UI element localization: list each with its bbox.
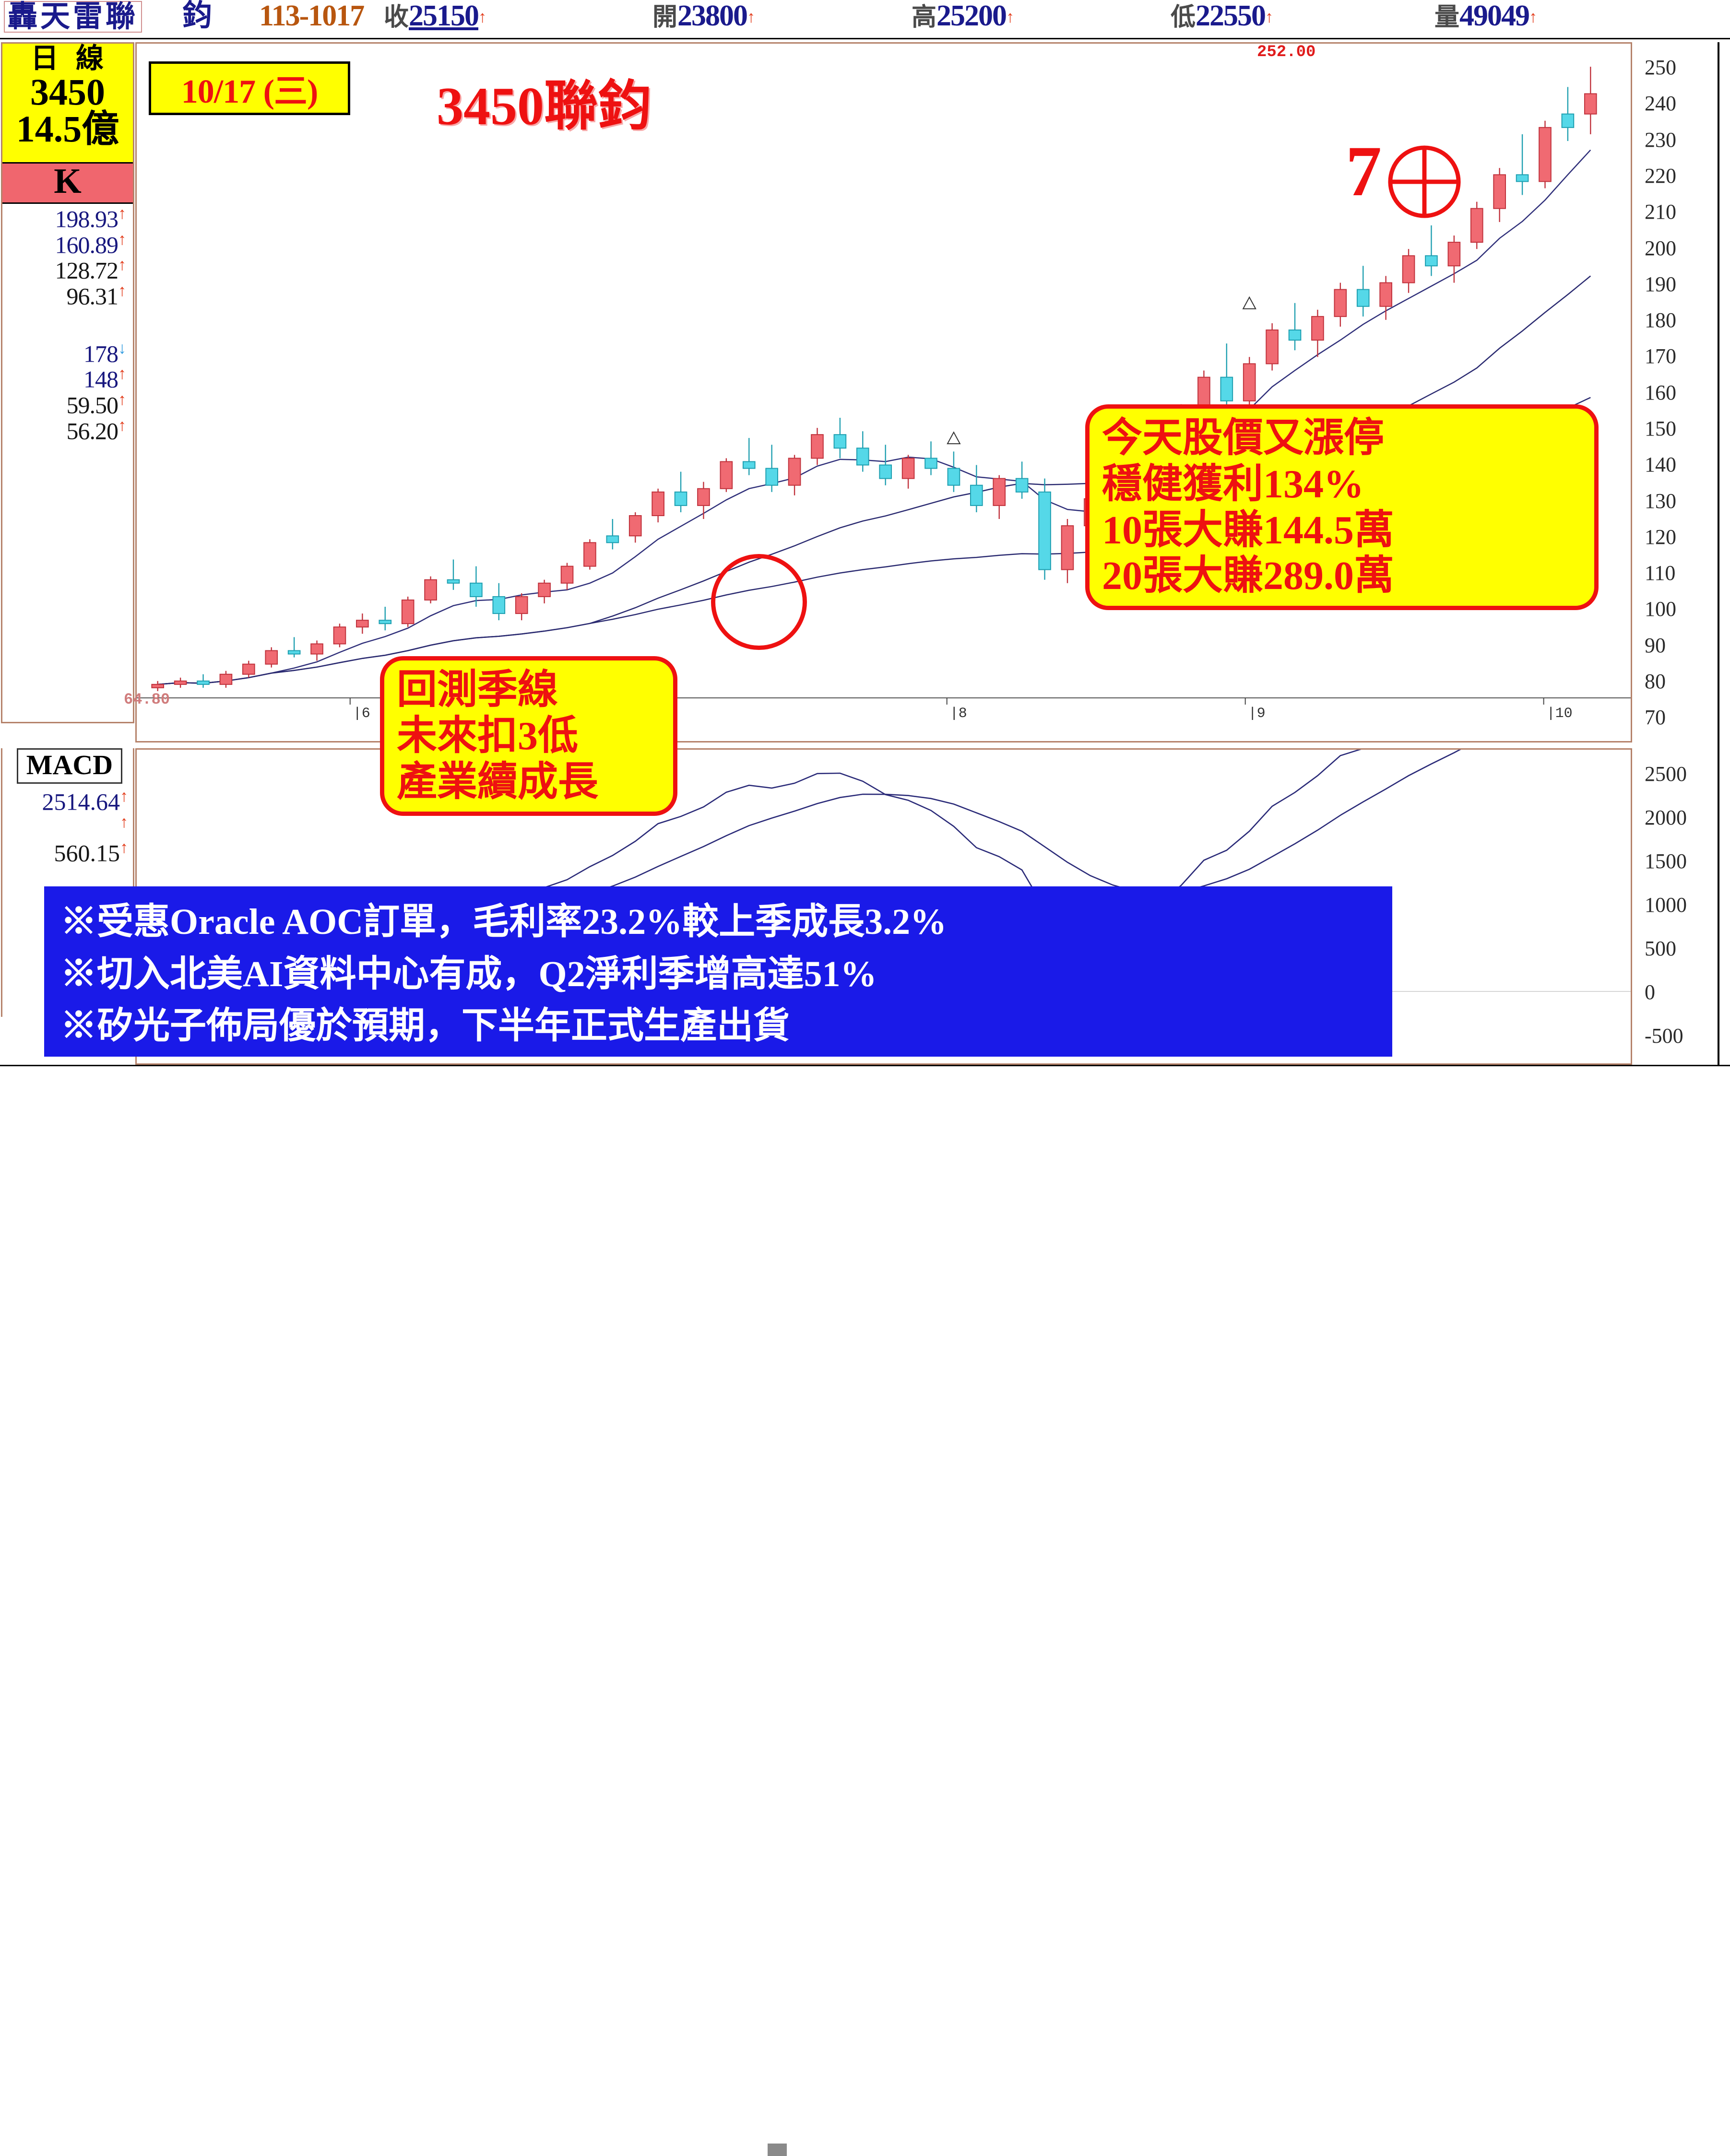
macd-value: 2514.64: [42, 789, 120, 815]
high-price-tag: 252.00: [1257, 43, 1315, 61]
arrow-up-icon: ↑: [120, 839, 128, 857]
price-axis-tick: 220: [1645, 165, 1676, 187]
callout-line: 10張大賺144.5萬: [1102, 507, 1582, 554]
date-badge: 10/17 (三): [149, 61, 350, 115]
macd-axis-tick: 500: [1645, 938, 1676, 959]
quote-high-value: 25200: [936, 0, 1006, 32]
spacer: [2, 309, 130, 341]
vol-value: 59.50: [67, 392, 118, 419]
arrow-up-icon: ↑: [118, 256, 126, 274]
news-line: ※矽光子佈局優於預期，下半年正式生產出貨: [60, 1000, 1376, 1052]
price-axis-tick: 130: [1645, 491, 1676, 512]
arrow-up-icon: ↑: [747, 9, 755, 26]
arrow-up-icon: ↑: [118, 282, 126, 300]
indicator-tab-k[interactable]: K: [2, 164, 133, 204]
quote-high: 高25200↑: [912, 1, 1014, 31]
arrow-up-icon: ↑: [120, 788, 128, 805]
vol-row: 148↑: [2, 366, 130, 392]
callout-line: 產業續成長: [397, 759, 661, 805]
ma-value: 198.93: [55, 206, 118, 233]
vol-value: 56.20: [67, 417, 118, 444]
price-axis-tick: 150: [1645, 418, 1676, 439]
arrow-up-icon: ↑: [478, 9, 486, 26]
stock-name-secondary: 鈞: [182, 1, 212, 31]
period-summary-box[interactable]: 日線 3450 14.5億: [2, 44, 133, 164]
callout-line: 今天股價又漲停: [1102, 415, 1582, 461]
callout-profit: 今天股價又漲停 穩健獲利134% 10張大賺144.5萬 20張大賺289.0萬: [1085, 404, 1599, 610]
vol-row: 59.50↑: [2, 392, 130, 418]
ma-value: 96.31: [67, 283, 118, 310]
macd-axis-tick: -500: [1645, 1025, 1683, 1047]
arrow-up-icon: ↑: [118, 391, 126, 409]
page-title: 3450聯鈞: [437, 62, 652, 140]
macd-row: 2514.64↑: [2, 789, 131, 814]
macd-axis-tick: 0: [1645, 982, 1655, 1003]
macd-title[interactable]: MACD: [17, 748, 122, 784]
pullback-highlight-circle: [711, 554, 807, 650]
arrow-up-icon: ↑: [1529, 9, 1537, 26]
svg-text:|6: |6: [353, 706, 370, 722]
vol-value: 148: [83, 366, 118, 393]
arrow-up-icon: ↑: [118, 205, 126, 223]
chart-right-border: [1718, 42, 1719, 1065]
quote-high-label: 高: [912, 4, 936, 31]
macd-value-list: 2514.64↑ ↑ 560.15↑: [2, 789, 131, 866]
vol-value: 178: [83, 340, 118, 367]
quote-low-label: 低: [1171, 4, 1196, 31]
crosshair-circle-icon: [1386, 144, 1462, 220]
price-axis-tick: 230: [1645, 130, 1676, 151]
price-axis-tick: 80: [1645, 671, 1666, 692]
quote-volume: 量49049↑: [1434, 1, 1537, 31]
svg-text:|10: |10: [1547, 706, 1573, 722]
price-axis-tick: 180: [1645, 310, 1676, 331]
price-axis-tick: 190: [1645, 274, 1676, 295]
news-line: ※切入北美AI資料中心有成，Q2淨利季增高達51%: [60, 948, 1376, 1001]
quote-low: 低22550↑: [1171, 1, 1273, 31]
price-axis-tick: 240: [1645, 93, 1676, 114]
macd-axis-tick: 1500: [1645, 851, 1687, 872]
quote-volume-value: 49049: [1459, 0, 1529, 32]
low-price-tag: 64.80: [124, 691, 170, 708]
callout-line: 穩健獲利134%: [1102, 461, 1582, 507]
quote-open-label: 開: [652, 4, 677, 31]
callout-line: 回測季線: [397, 667, 661, 713]
price-axis-tick: 200: [1645, 238, 1676, 259]
ma-row: 198.93↑: [2, 206, 130, 232]
arrow-up-icon: ↑: [1265, 9, 1273, 26]
arrow-down-icon: ↓: [118, 340, 126, 357]
quote-close: 收25150↑: [384, 1, 486, 31]
turnover-value: 14.5億: [2, 110, 133, 148]
quote-low-value: 22550: [1196, 0, 1265, 32]
quote-open-value: 23800: [677, 0, 747, 32]
callout-pullback: 回測季線 未來扣3低 產業續成長: [380, 656, 677, 816]
ma-row: 128.72↑: [2, 257, 130, 283]
macd-axis-tick: 2500: [1645, 764, 1687, 785]
ma-value-list: 198.93↑ 160.89↑ 128.72↑ 96.31↑ 178↓ 148↑…: [2, 206, 130, 443]
macd-value: 560.15: [54, 840, 120, 867]
price-axis-tick: 170: [1645, 346, 1676, 367]
macd-axis-tick: 2000: [1645, 807, 1687, 828]
quote-date: 113-1017: [259, 1, 364, 31]
price-axis-tick: 250: [1645, 57, 1676, 78]
price-axis-tick: 90: [1645, 635, 1666, 656]
big-number-seven: 7: [1346, 139, 1382, 204]
price-axis-tick: 210: [1645, 201, 1676, 223]
scroll-marker[interactable]: [768, 2144, 787, 2156]
ma-row: 96.31↑: [2, 283, 130, 309]
vol-row: 56.20↑: [2, 418, 130, 444]
stock-name[interactable]: 轟天雷聯: [4, 1, 142, 33]
stock-code: 3450: [2, 74, 133, 110]
arrow-up-icon: ↑: [118, 417, 126, 435]
price-axis-tick: 100: [1645, 599, 1676, 620]
price-axis: 2502402302202102001901801701601501401301…: [1634, 42, 1730, 742]
quote-close-label: 收: [384, 4, 409, 31]
quote-open: 開23800↑: [652, 1, 755, 31]
news-highlights-box: ※受惠Oracle AOC訂單，毛利率23.2%較上季成長3.2% ※切入北美A…: [44, 886, 1392, 1057]
macd-row: 560.15↑: [2, 840, 131, 866]
callout-line: 20張大賺289.0萬: [1102, 553, 1582, 599]
ma-row: 160.89↑: [2, 232, 130, 258]
quote-close-value: 25150: [409, 0, 478, 32]
quote-bar: 轟天雷聯 鈞 113-1017 收25150↑ 開23800↑ 高25200↑ …: [0, 0, 1730, 39]
price-axis-tick: 120: [1645, 527, 1676, 548]
vol-row: 178↓: [2, 341, 130, 366]
arrow-up-icon: ↑: [118, 231, 126, 248]
price-axis-tick: 70: [1645, 707, 1666, 728]
arrow-up-icon: ↑: [120, 813, 128, 831]
macd-row: ↑: [2, 814, 131, 840]
news-line: ※受惠Oracle AOC訂單，毛利率23.2%較上季成長3.2%: [60, 896, 1376, 948]
price-axis-tick: 160: [1645, 382, 1676, 403]
period-label: 日線: [2, 44, 133, 74]
price-axis-tick: 110: [1645, 563, 1675, 584]
left-info-panel: 日線 3450 14.5億 K 198.93↑ 160.89↑ 128.72↑ …: [1, 42, 134, 723]
quote-volume-label: 量: [1434, 4, 1459, 31]
macd-axis-tick: 1000: [1645, 895, 1687, 916]
svg-text:|9: |9: [1248, 706, 1266, 722]
price-axis-tick: 140: [1645, 454, 1676, 475]
arrow-up-icon: ↑: [1006, 9, 1014, 26]
svg-text:|8: |8: [950, 706, 967, 722]
bottom-strip: [0, 1065, 1730, 1107]
callout-line: 未來扣3低: [397, 713, 661, 759]
ma-value: 160.89: [55, 231, 118, 258]
arrow-up-icon: ↑: [118, 365, 126, 383]
ma-value: 128.72: [55, 257, 118, 284]
macd-axis: 25002000150010005000-500: [1634, 748, 1730, 1065]
